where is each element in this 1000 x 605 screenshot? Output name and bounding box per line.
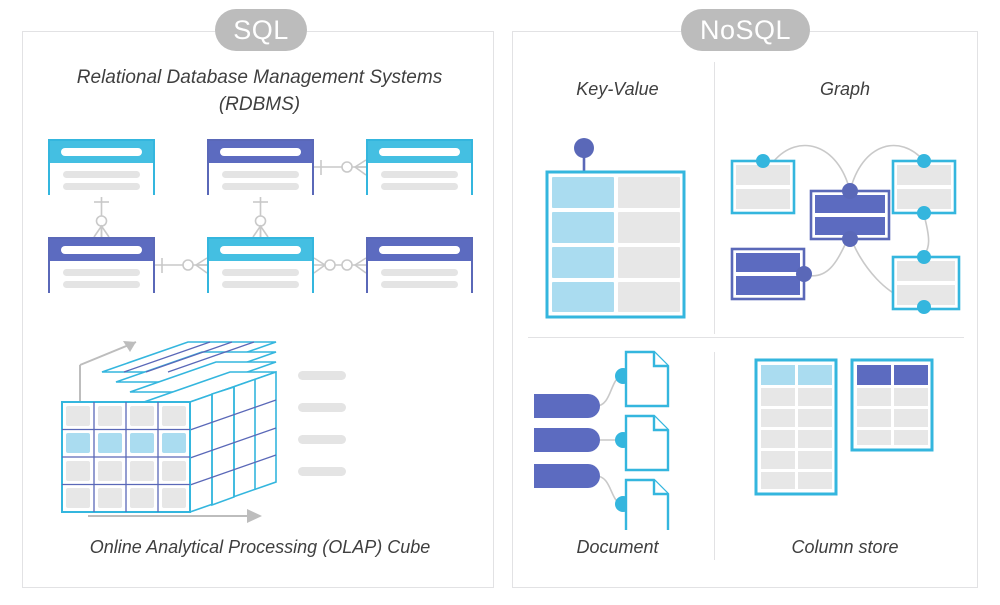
graph-connector-dot (917, 154, 931, 168)
er-table-field (63, 269, 140, 276)
er-table-header (50, 239, 153, 261)
key-value-title: Key-Value (530, 79, 705, 100)
graph-title: Graph (730, 79, 960, 100)
er-table-body (50, 261, 153, 295)
nosql-badge-label: NoSQL (700, 17, 791, 44)
er-table-field (222, 171, 299, 178)
er-table-body (368, 261, 471, 295)
document-title: Document (530, 537, 705, 558)
graph-connector-dot (796, 266, 812, 282)
olap-legend-bars (298, 371, 346, 476)
column-store-figure[interactable] (740, 350, 970, 530)
nosql-divider-vertical-top (714, 62, 715, 334)
graph-connector-dot (917, 206, 931, 220)
er-table-field (63, 183, 140, 190)
graph-node-bottom-left (732, 249, 804, 299)
er-table-title-bar (379, 246, 460, 254)
graph-connector-dot (917, 250, 931, 264)
graph-connector-dot (917, 300, 931, 314)
nosql-badge: NoSQL (681, 9, 810, 51)
er-table-1[interactable] (48, 139, 155, 195)
er-table-title-bar (379, 148, 460, 156)
er-table-title-bar (61, 148, 142, 156)
er-table-header (50, 141, 153, 163)
column-store-table-1 (756, 360, 836, 494)
er-table-field (222, 269, 299, 276)
er-table-body (209, 261, 312, 295)
olap-cube-figure[interactable] (26, 330, 486, 535)
er-table-5[interactable] (207, 237, 314, 293)
er-table-4[interactable] (48, 237, 155, 293)
er-table-6[interactable] (366, 237, 473, 293)
er-table-body (50, 163, 153, 197)
er-table-title-bar (220, 246, 301, 254)
nosql-divider-vertical-bottom (714, 352, 715, 560)
er-table-title-bar (61, 246, 142, 254)
nosql-divider-horizontal (528, 337, 964, 338)
graph-node-top-right (893, 161, 955, 213)
graph-figure[interactable] (728, 135, 968, 330)
er-table-title-bar (220, 148, 301, 156)
er-table-field (381, 269, 458, 276)
er-table-field (63, 281, 140, 288)
key-value-figure[interactable] (528, 130, 714, 330)
er-table-3[interactable] (366, 139, 473, 195)
graph-connector-dot (842, 231, 858, 247)
document-pages (626, 352, 668, 530)
document-tags (534, 394, 600, 488)
er-table-body (368, 163, 471, 197)
er-table-header (209, 141, 312, 163)
diagram-canvas: SQL Relational Database Management Syste… (0, 0, 1000, 605)
key-value-pin-head (574, 138, 594, 158)
er-table-header (368, 141, 471, 163)
er-table-header (209, 239, 312, 261)
document-figure[interactable] (530, 350, 710, 530)
er-table-field (381, 281, 458, 288)
column-store-table-2 (852, 360, 932, 450)
graph-connector-dot (842, 183, 858, 199)
graph-connector-dot (756, 154, 770, 168)
er-table-field (222, 183, 299, 190)
er-table-body (209, 163, 312, 197)
er-table-field (222, 281, 299, 288)
er-table-field (381, 171, 458, 178)
olap-title: Online Analytical Processing (OLAP) Cube (36, 537, 484, 558)
column-store-title: Column store (730, 537, 960, 558)
er-table-field (381, 183, 458, 190)
er-table-2[interactable] (207, 139, 314, 195)
er-table-field (63, 171, 140, 178)
er-table-header (368, 239, 471, 261)
graph-node-top-left (732, 161, 794, 213)
